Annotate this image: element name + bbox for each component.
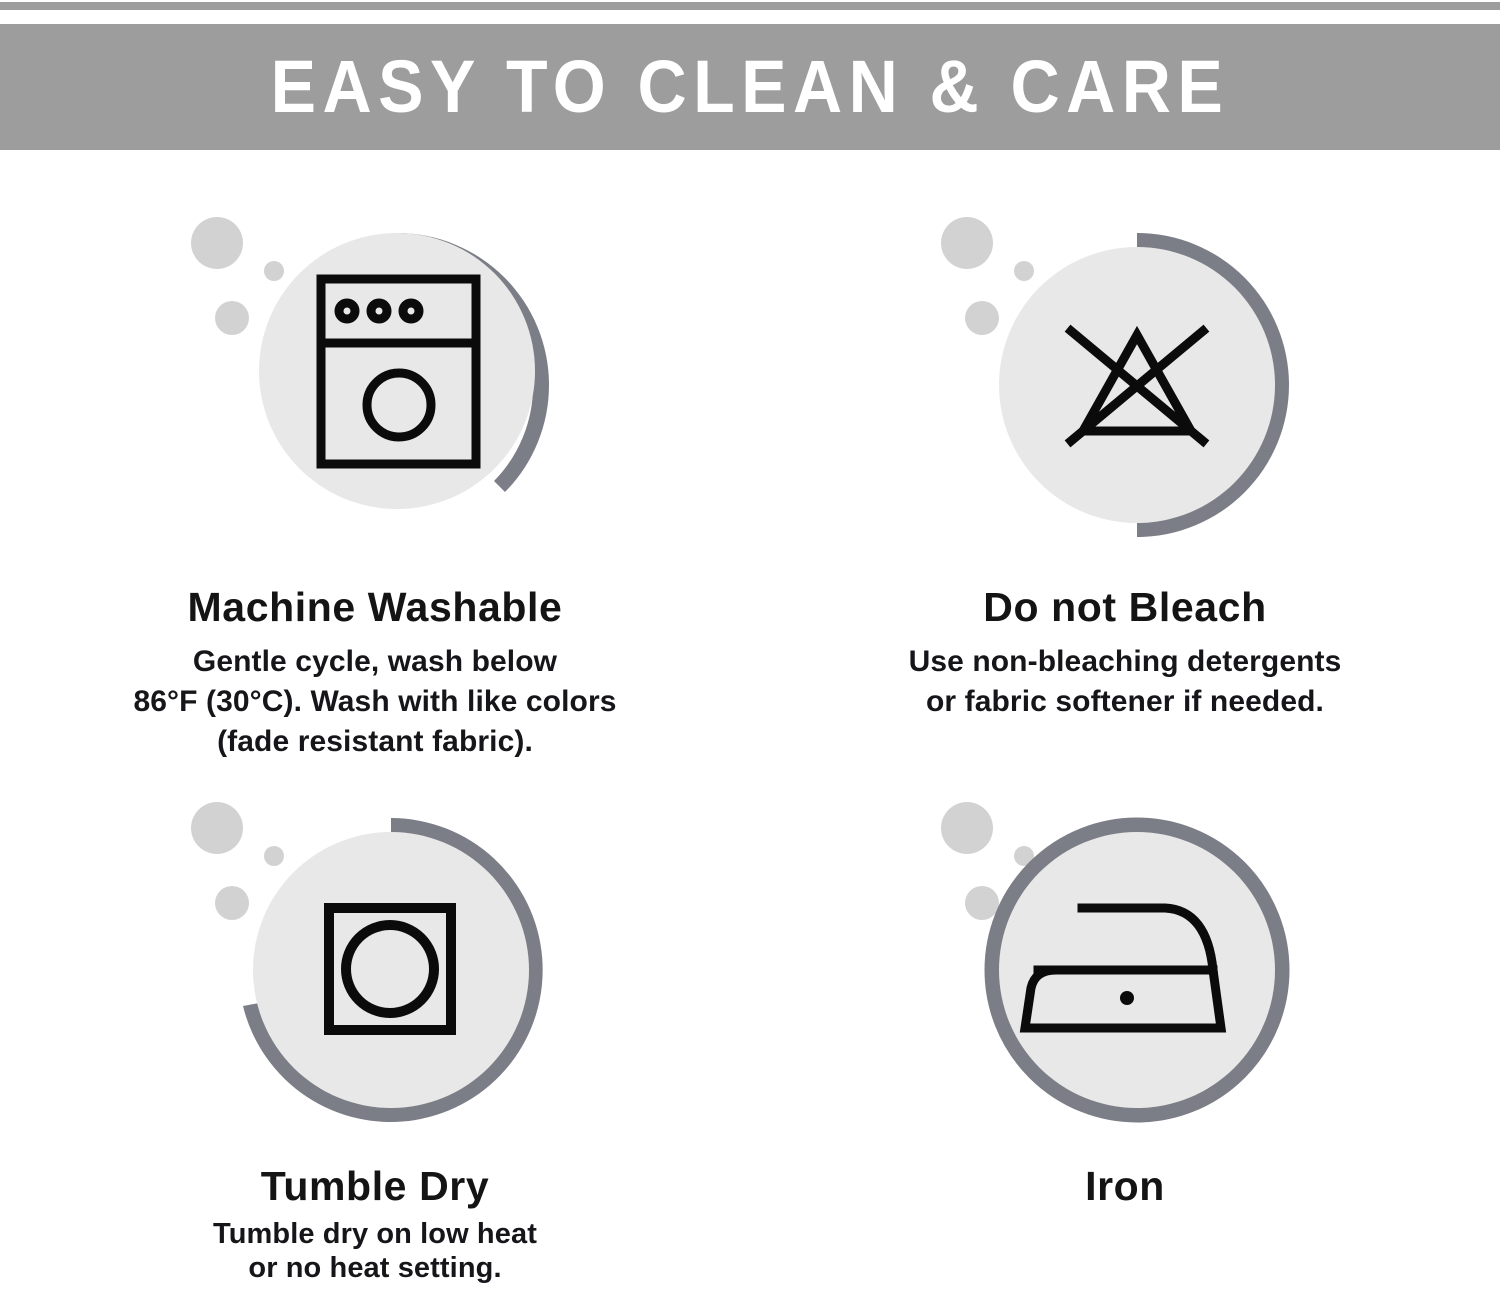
bubble-small-icon [264, 261, 284, 281]
bubble-large-icon [941, 802, 993, 854]
bubble-large-icon [191, 217, 243, 269]
card-desc-machine-washable: Gentle cycle, wash below 86°F (30°C). Wa… [0, 642, 750, 762]
tumble-dry-badge-svg [175, 790, 575, 1160]
card-title-machine-washable: Machine Washable [0, 585, 750, 630]
card-desc-do-not-bleach: Use non-bleaching detergents or fabric s… [750, 642, 1500, 722]
card-title-iron: Iron [750, 1164, 1500, 1209]
care-card-iron: Iron [750, 790, 1500, 1217]
top-rule [0, 2, 1500, 10]
desc-line: Use non-bleaching detergents [810, 642, 1440, 682]
card-desc-tumble-dry: Tumble dry on low heat or no heat settin… [0, 1217, 750, 1285]
bubble-medium-icon [965, 301, 999, 335]
care-card-tumble-dry: Tumble Dry Tumble dry on low heat or no … [0, 790, 750, 1286]
desc-line: or no heat setting. [60, 1251, 690, 1285]
badge-iron [925, 790, 1325, 1160]
bubble-medium-icon [965, 886, 999, 920]
desc-line: Tumble dry on low heat [60, 1217, 690, 1251]
bubble-large-icon [941, 217, 993, 269]
badge-tumble-dry [175, 790, 575, 1160]
do-not-bleach-badge-svg [925, 205, 1325, 575]
header-banner: EASY TO CLEAN & CARE [0, 24, 1500, 150]
bubble-medium-icon [215, 886, 249, 920]
desc-line: or fabric softener if needed. [810, 682, 1440, 722]
bubble-small-icon [1014, 261, 1034, 281]
desc-line: (fade resistant fabric). [60, 722, 690, 762]
iron-dot-icon [1120, 991, 1134, 1005]
desc-line: 86°F (30°C). Wash with like colors [60, 682, 690, 722]
washing-machine-badge-svg [175, 205, 575, 575]
care-card-machine-washable: Machine Washable Gentle cycle, wash belo… [0, 205, 750, 762]
badge-machine-washable [175, 205, 575, 575]
iron-badge-svg [925, 790, 1325, 1160]
desc-line: Gentle cycle, wash below [60, 642, 690, 682]
card-title-tumble-dry: Tumble Dry [0, 1164, 750, 1209]
bubble-medium-icon [215, 301, 249, 335]
page-title: EASY TO CLEAN & CARE [271, 50, 1229, 124]
bubble-small-icon [264, 846, 284, 866]
care-card-do-not-bleach: Do not Bleach Use non-bleaching detergen… [750, 205, 1500, 722]
card-title-do-not-bleach: Do not Bleach [750, 585, 1500, 630]
badge-disc [253, 832, 529, 1108]
care-icon-grid: Machine Washable Gentle cycle, wash belo… [0, 150, 1500, 1311]
badge-do-not-bleach [925, 205, 1325, 575]
bubble-large-icon [191, 802, 243, 854]
